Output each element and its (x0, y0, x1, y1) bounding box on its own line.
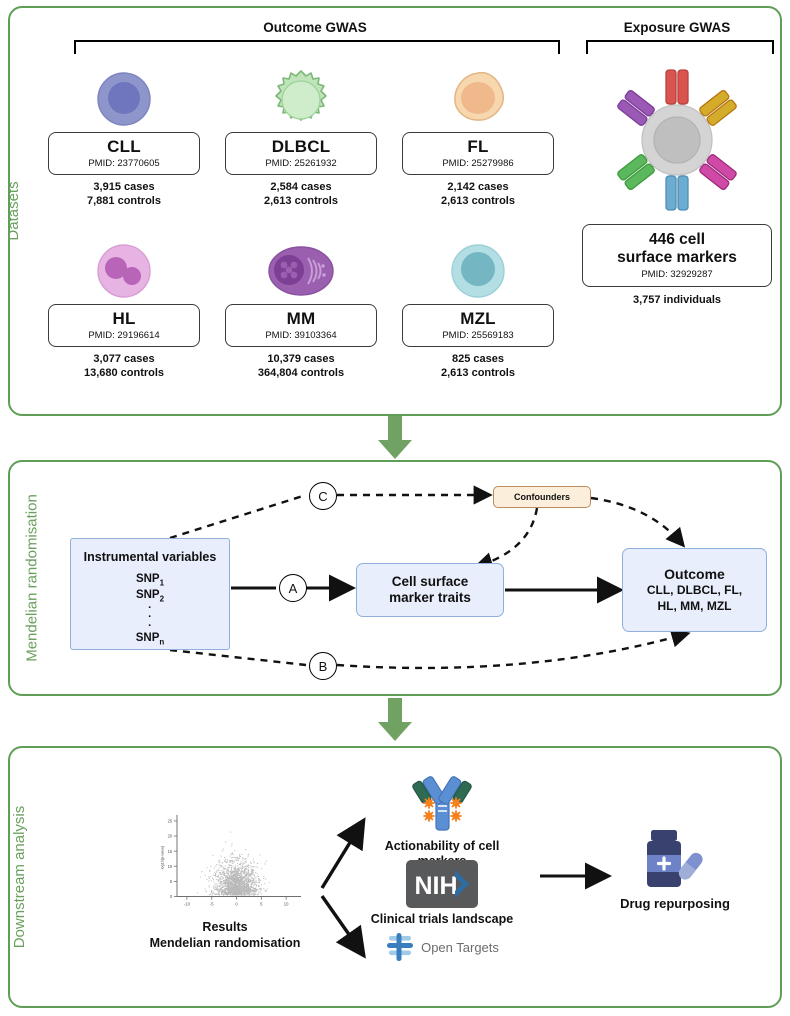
dataset-counts: 3,915 cases 7,881 controls (48, 181, 200, 209)
dataset-name: FL (407, 138, 549, 156)
exposure-gwas-bracket (586, 40, 774, 54)
clinical-trials-block: NIH Clinical trials landscape Open Targe… (350, 860, 534, 962)
open-targets-text: Open Targets (421, 940, 499, 955)
svg-text:5: 5 (260, 901, 263, 906)
downstream-analysis-panel: Downstream analysis 0510152025 -10-50510… (8, 746, 782, 1008)
dataset-name: DLBCL (230, 138, 372, 156)
results-caption-line2: Mendelian randomisation (130, 935, 320, 951)
dataset-counts: 825 cases 2,613 controls (402, 353, 554, 381)
dataset-name: CLL (53, 138, 195, 156)
dataset-card-cll: CLL PMID: 23770605 3,915 cases 7,881 con… (48, 66, 200, 208)
exposure-gwas-title: Exposure GWAS (582, 20, 772, 35)
dataset-cases: 2,142 cases (402, 181, 554, 195)
assumption-node-b: B (309, 652, 337, 680)
dataset-cases: 10,379 cases (225, 353, 377, 367)
dataset-name: MZL (407, 310, 549, 328)
exposure-title-line1: 446 cell (587, 231, 767, 249)
exposure-namebox: 446 cell surface markers PMID: 32929287 (582, 224, 772, 287)
nih-logo-text: NIH (414, 872, 457, 900)
svg-text:0: 0 (170, 894, 173, 899)
dataset-card-dlbcl: DLBCL PMID: 25261932 2,584 cases 2,613 c… (225, 66, 377, 208)
dataset-pmid: PMID: 25279986 (407, 158, 549, 169)
dataset-pmid: PMID: 25569183 (407, 330, 549, 341)
dataset-counts: 2,584 cases 2,613 controls (225, 181, 377, 209)
dataset-controls: 2,613 controls (402, 367, 554, 381)
datasets-panel: Datasets Outcome GWAS Exposure GWAS CLL … (8, 6, 782, 416)
dataset-pmid: PMID: 23770605 (53, 158, 195, 169)
svg-text:10: 10 (284, 901, 289, 906)
flow-arrow-down-1 (371, 416, 419, 460)
dataset-counts: 3,077 cases 13,680 controls (48, 353, 200, 381)
results-caption-line1: Results (130, 919, 320, 935)
svg-text:5: 5 (170, 879, 173, 884)
outcome-gwas-bracket (74, 40, 560, 54)
dataset-controls: 2,613 controls (402, 195, 554, 209)
actionability-block: Actionability of cell markers (362, 770, 522, 870)
svg-text:-log10(p-value): -log10(p-value) (160, 846, 164, 871)
svg-text:0: 0 (235, 901, 238, 906)
dataset-cases: 2,584 cases (225, 181, 377, 195)
antibody-icon (362, 770, 522, 836)
dataset-pmid: PMID: 29196614 (53, 330, 195, 341)
flow-arrow-down-2 (371, 698, 419, 742)
confounders-box: Confounders (493, 486, 591, 508)
assumption-node-a: A (279, 574, 307, 602)
dataset-pmid: PMID: 25261932 (230, 158, 372, 169)
outcome-gwas-title: Outcome GWAS (70, 20, 560, 35)
svg-text:10: 10 (168, 864, 173, 869)
cell-surface-marker-traits-box: Cell surface marker traits (356, 563, 504, 617)
svg-text:25: 25 (168, 819, 173, 824)
dataset-namebox-dlbcl: DLBCL PMID: 25261932 (225, 132, 377, 175)
dataset-controls: 2,613 controls (225, 195, 377, 209)
cell-surface-markers-icon (582, 56, 772, 224)
exposure-pmid: PMID: 32929287 (587, 269, 767, 280)
plasma-cell-icon (225, 238, 377, 304)
dataset-namebox-fl: FL PMID: 25279986 (402, 132, 554, 175)
exposure-individuals: 3,757 individuals (582, 294, 772, 306)
actionability-line1: Actionability of cell (362, 839, 522, 854)
trait-line2: marker traits (389, 590, 471, 606)
mr-results-plot-wrapper: 0510152025 -10-50510 -log10(p-value) Res… (130, 808, 320, 952)
dataset-card-mm: MM PMID: 39103364 10,379 cases 364,804 c… (225, 238, 377, 380)
dataset-controls: 7,881 controls (48, 195, 200, 209)
lymphocyte-cell-icon (48, 66, 200, 132)
svg-text:20: 20 (168, 834, 173, 839)
dataset-card-mzl: MZL PMID: 25569183 825 cases 2,613 contr… (402, 238, 554, 380)
reed-sternberg-cell-icon (48, 238, 200, 304)
svg-text:-10: -10 (184, 901, 191, 906)
spiky-b-cell-icon (225, 66, 377, 132)
drug-repurposing-block: Drug repurposing (590, 828, 760, 911)
instrumental-variables-box: Instrumental variables SNP1 SNP2 ··· SNP… (70, 538, 230, 650)
dataset-card-hl: HL PMID: 29196614 3,077 cases 13,680 con… (48, 238, 200, 380)
iv-snp-1: SNP1 (71, 572, 229, 588)
outcome-heading: Outcome (664, 566, 725, 582)
outcome-box: Outcome CLL, DLBCL, FL, HL, MM, MZL (622, 548, 767, 632)
dataset-counts: 10,379 cases 364,804 controls (225, 353, 377, 381)
dataset-name: MM (230, 310, 372, 328)
drug-repurposing-label: Drug repurposing (590, 896, 760, 911)
outcome-line2: HL, MM, MZL (658, 599, 732, 614)
svg-text:15: 15 (168, 849, 173, 854)
open-targets-row: Open Targets (350, 932, 534, 962)
dataset-controls: 13,680 controls (48, 367, 200, 381)
iv-heading: Instrumental variables (71, 550, 229, 564)
nih-logo-icon: NIH (406, 860, 478, 908)
dataset-controls: 364,804 controls (225, 367, 377, 381)
datasets-panel-label: Datasets (5, 181, 22, 240)
dataset-namebox-cll: CLL PMID: 23770605 (48, 132, 200, 175)
exposure-title-line2: surface markers (587, 249, 767, 267)
pill-bottle-icon (590, 828, 760, 890)
dataset-cases: 825 cases (402, 353, 554, 367)
svg-text:-5: -5 (210, 901, 214, 906)
dataset-namebox-hl: HL PMID: 29196614 (48, 304, 200, 347)
mendelian-randomisation-panel: Mendelian randomisation Instrumental var… (8, 460, 782, 696)
dataset-counts: 2,142 cases 2,613 controls (402, 181, 554, 209)
dataset-namebox-mm: MM PMID: 39103364 (225, 304, 377, 347)
outcome-line1: CLL, DLBCL, FL, (647, 583, 742, 598)
dataset-card-fl: FL PMID: 25279986 2,142 cases 2,613 cont… (402, 66, 554, 208)
follicular-cell-icon (402, 66, 554, 132)
exposure-gwas-card: 446 cell surface markers PMID: 32929287 … (582, 56, 772, 306)
confounders-label: Confounders (514, 492, 570, 502)
iv-snp-list: SNP1 SNP2 ··· SNPn (71, 572, 229, 647)
dataset-name: HL (53, 310, 195, 328)
assumption-node-c: C (309, 482, 337, 510)
trait-line1: Cell surface (392, 574, 469, 590)
dataset-pmid: PMID: 39103364 (230, 330, 372, 341)
dataset-namebox-mzl: MZL PMID: 25569183 (402, 304, 554, 347)
iv-snp-n: SNPn (71, 631, 229, 647)
marginal-zone-cell-icon (402, 238, 554, 304)
iv-ellipsis: ··· (71, 604, 229, 630)
dataset-cases: 3,915 cases (48, 181, 200, 195)
results-caption: Results Mendelian randomisation (130, 919, 320, 952)
clinical-trials-label: Clinical trials landscape (350, 912, 534, 926)
volcano-scatter-plot: 0510152025 -10-50510 -log10(p-value) (145, 808, 305, 913)
open-targets-icon (385, 932, 415, 962)
dataset-cases: 3,077 cases (48, 353, 200, 367)
